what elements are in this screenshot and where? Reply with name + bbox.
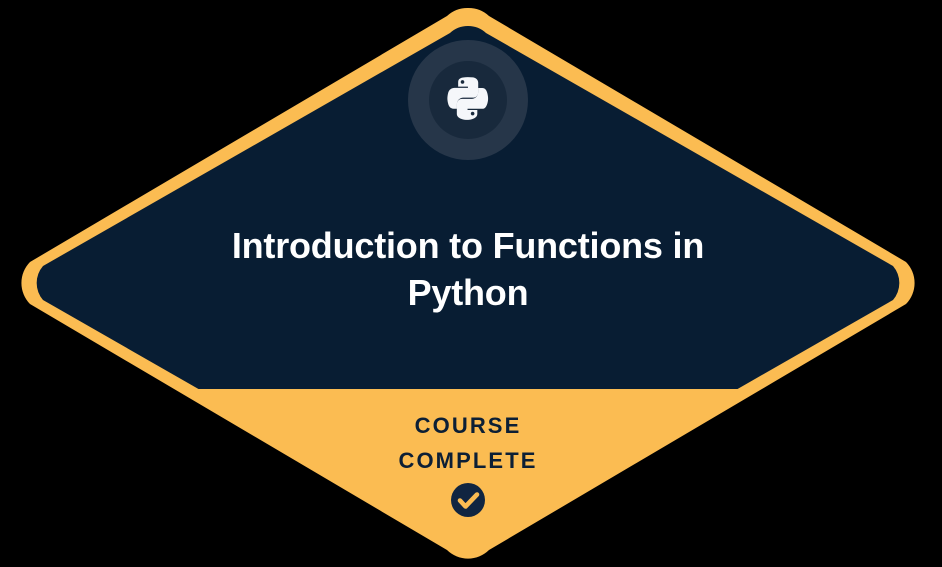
check-circle-icon (451, 483, 485, 517)
badge-graphic (0, 0, 942, 567)
check-circle-background (451, 483, 485, 517)
course-completion-badge: Introduction to Functions in Python COUR… (0, 0, 942, 567)
